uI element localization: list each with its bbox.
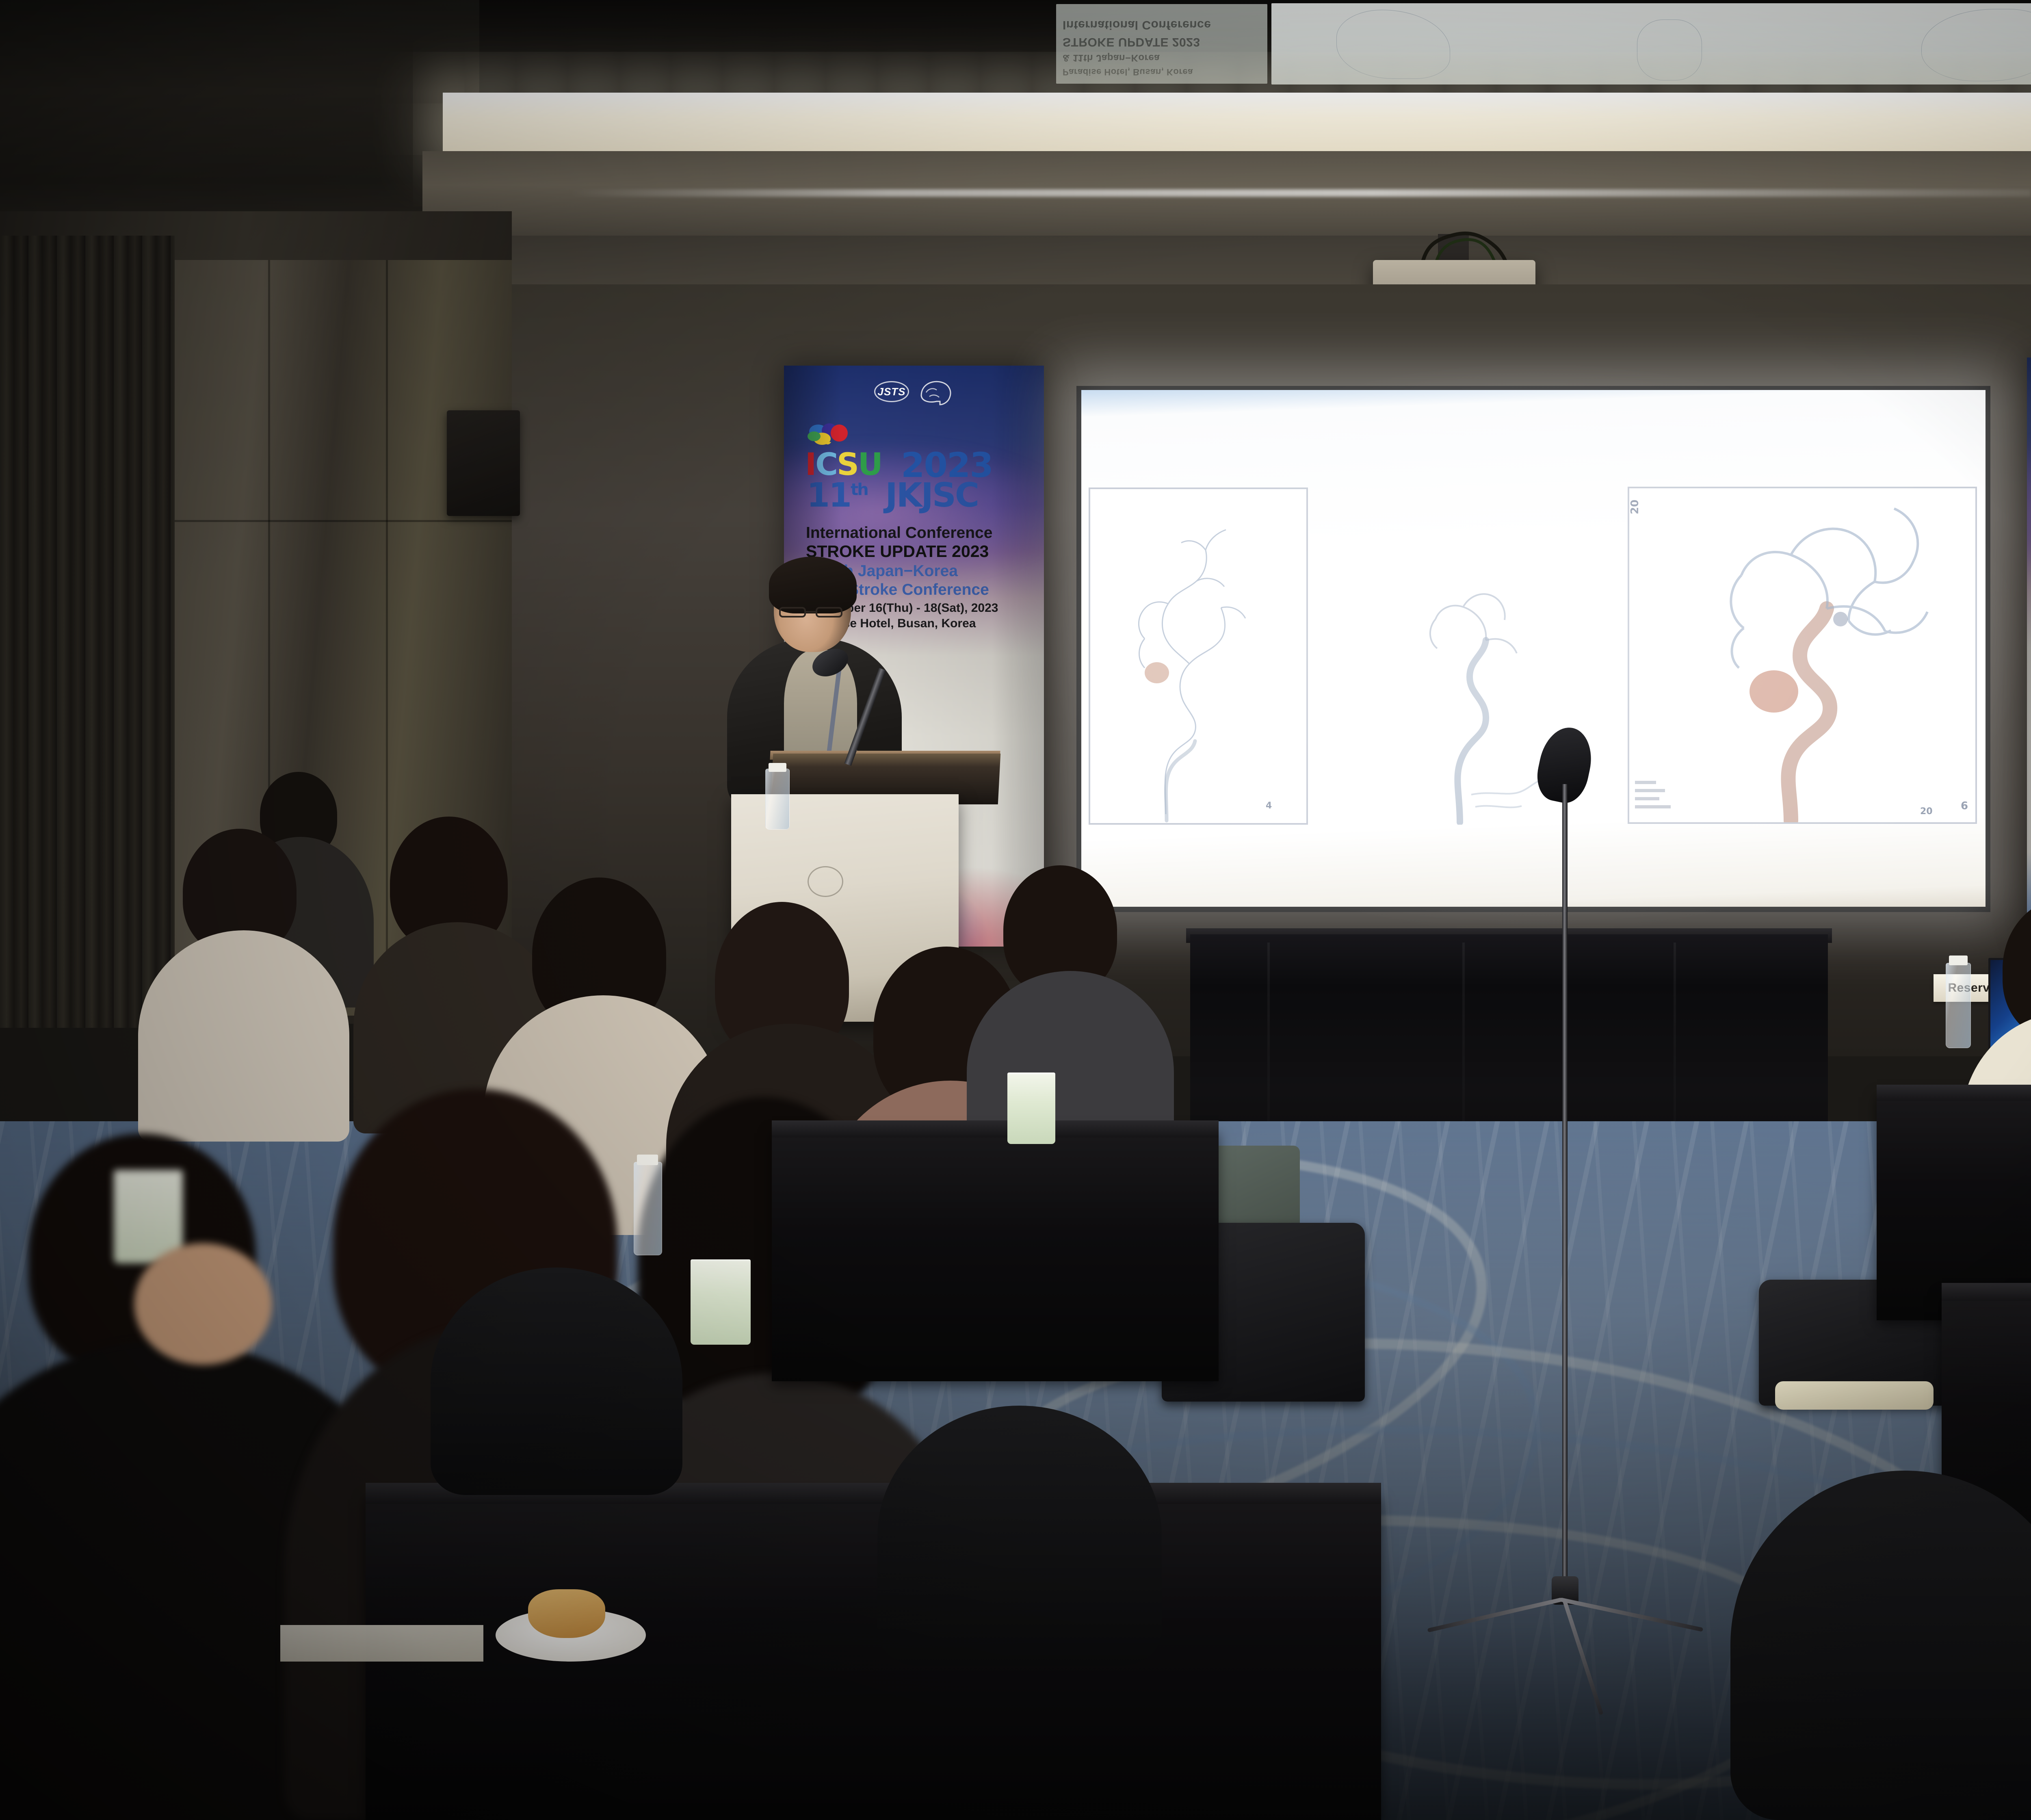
pastry	[528, 1589, 605, 1638]
conference-banner-right: JSTS I C S U 2023 11th JK	[2027, 357, 2031, 938]
dsa-panel-left: 4	[1089, 487, 1308, 825]
table-water-bottle	[1946, 963, 1971, 1048]
chair-back	[431, 1267, 682, 1495]
reflected-banner-line2: STROKE UPDATE 2023	[1063, 35, 1200, 49]
napkin	[280, 1625, 483, 1662]
table-water-bottle	[634, 1162, 662, 1255]
bottle-cap	[1949, 955, 1968, 965]
audience-shoulders	[138, 930, 349, 1142]
reflected-banner-line1: International Conference	[1063, 18, 1211, 32]
ceiling-cove-light	[443, 93, 2031, 154]
audience-table-left-1	[772, 1129, 1219, 1381]
dsa-vessel-center	[1390, 565, 1561, 825]
audience-table-foreground	[366, 1495, 1381, 1820]
audience-table-top	[772, 1120, 1219, 1137]
backpack-strap	[1775, 1381, 1934, 1410]
wall-panel-seam	[154, 520, 512, 522]
bottle-cap	[637, 1155, 658, 1165]
svg-text:20: 20	[1920, 806, 1933, 817]
ceiling-light-slot	[569, 189, 2031, 197]
chair-back	[877, 1406, 1162, 1666]
aneurysm-marker	[1750, 670, 1798, 713]
aneurysm-marker	[1145, 662, 1169, 683]
presenter-hair	[769, 557, 857, 613]
ceiling-reflection-screen	[1271, 3, 2031, 84]
microphone-stand-pole[interactable]	[1562, 784, 1568, 1592]
audience-table-top	[1877, 1085, 2031, 1101]
svg-text:6: 6	[1961, 800, 1968, 812]
presenter-glasses-icon	[778, 606, 843, 618]
paper-coffee-cup	[691, 1259, 751, 1345]
lectern-logo-icon	[808, 866, 843, 897]
ceiling-mirror-coffer: International Conference STROKE UPDATE 2…	[479, 0, 2031, 95]
foreground-hand	[134, 1243, 272, 1365]
conference-hall-photo: International Conference STROKE UPDATE 2…	[0, 0, 2031, 1820]
ceiling-reflection-banner-left: International Conference STROKE UPDATE 2…	[1056, 4, 1267, 84]
lectern-water-bottle	[765, 769, 790, 830]
svg-text:4: 4	[1266, 801, 1272, 811]
reflected-banner-location: Paradise Hotel, Busan, Korea	[1063, 67, 1193, 77]
wall-mounted-speaker	[447, 410, 520, 516]
reflected-banner-line3: & 11th Japan−Korea	[1063, 52, 1160, 63]
wall-panel-seam	[386, 260, 388, 1016]
projection-screen: 4	[1081, 390, 1986, 907]
blackout-curtain	[0, 236, 175, 1028]
svg-text:20: 20	[1629, 500, 1641, 514]
bottle-cap	[769, 763, 786, 772]
paper-coffee-cup	[1007, 1072, 1055, 1144]
dsa-panel-right: 20 6 20	[1628, 487, 1977, 824]
audience-table-top	[1942, 1283, 2031, 1301]
